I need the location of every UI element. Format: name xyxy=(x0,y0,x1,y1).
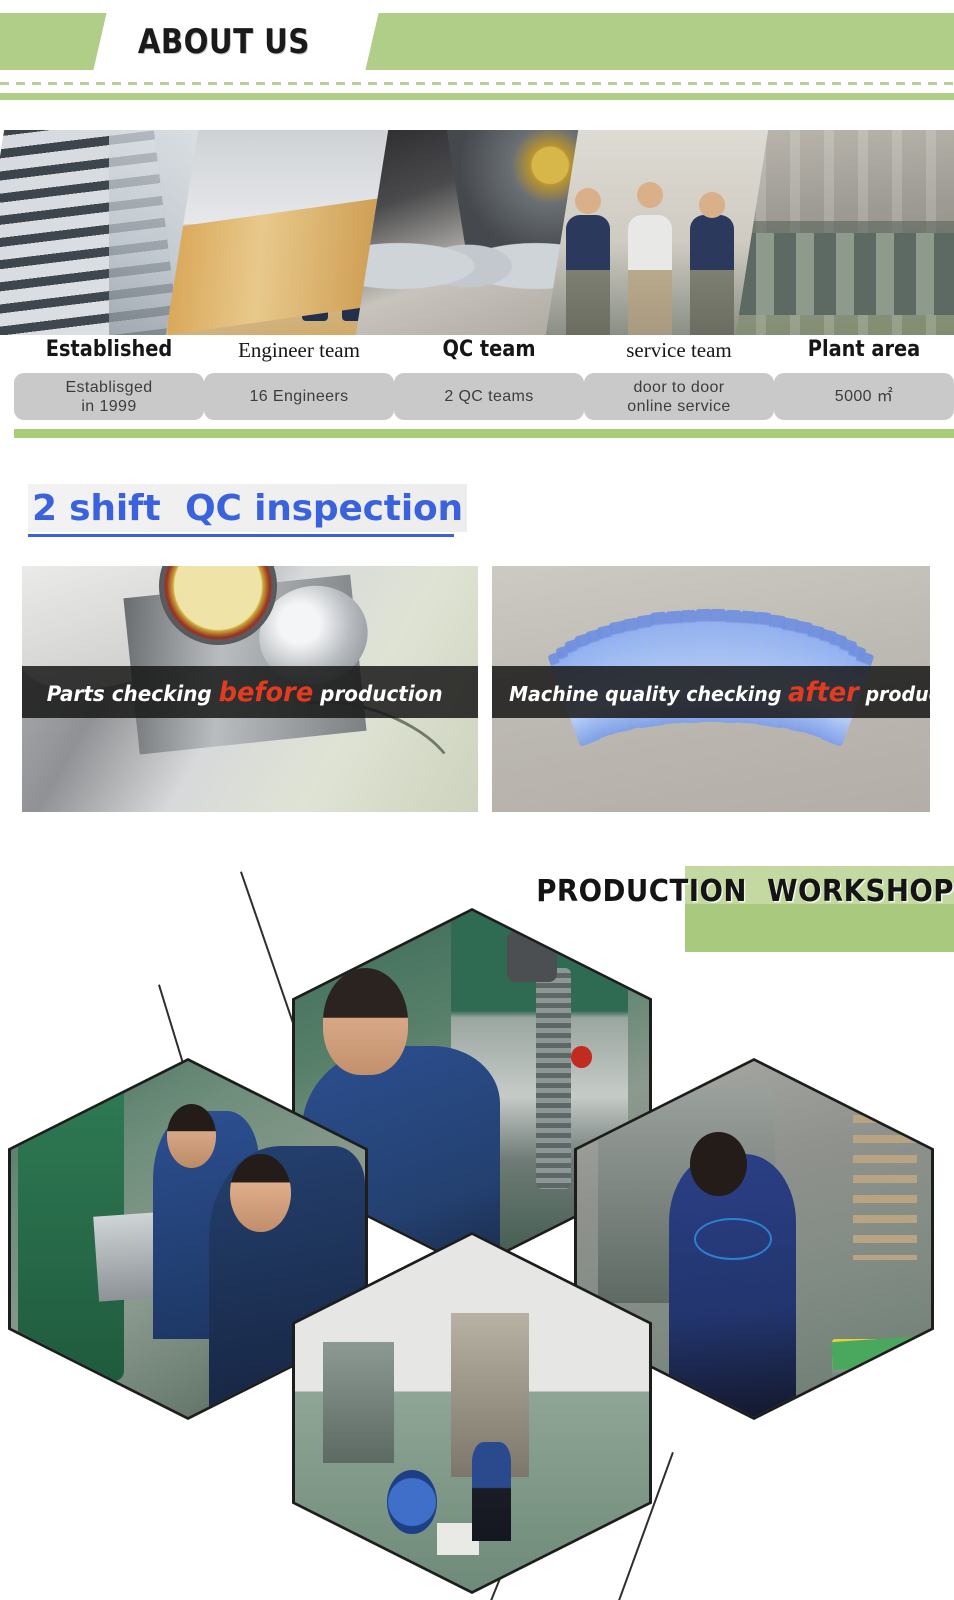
caption-highlight: before xyxy=(219,677,314,708)
feature-label: QC team xyxy=(405,335,572,365)
feature-service-team: service team door to door online service xyxy=(584,335,774,438)
header-green-rule xyxy=(0,93,954,100)
parts-checking-photo: Parts checking before production xyxy=(22,566,478,812)
feature-established: Established Establisged in 1999 xyxy=(14,335,204,438)
feature-engineer-team: Engineer team 16 Engineers xyxy=(204,335,394,438)
feature-green-bar xyxy=(774,429,954,438)
workshop-title: PRODUCTION WORKSHOP xyxy=(615,868,954,914)
feature-plant-area: Plant area 5000 ㎡ xyxy=(774,335,954,438)
feature-green-bar xyxy=(584,429,774,438)
feature-label: service team xyxy=(584,335,774,365)
feature-green-bar xyxy=(204,429,394,438)
caption-pre: Machine quality checking xyxy=(509,682,788,706)
feature-label: Plant area xyxy=(785,335,943,365)
feature-qc-team: QC team 2 QC teams xyxy=(394,335,584,438)
qc-heading-label: QC inspection xyxy=(185,488,463,529)
feature-green-bar xyxy=(394,429,584,438)
caption-pre: Parts checking xyxy=(47,682,219,706)
header-dashed-divider xyxy=(0,82,954,85)
feature-photo-strip xyxy=(0,130,954,335)
feature-green-bar xyxy=(14,429,204,438)
caption-post: production xyxy=(313,682,442,706)
feature-value: 16 Engineers xyxy=(204,373,394,420)
feature-label: Engineer team xyxy=(204,335,394,365)
qc-heading-shift: 2 shift xyxy=(32,488,185,529)
machine-quality-caption: Machine quality checking after productio… xyxy=(492,666,930,718)
about-us-header: ABOUT US xyxy=(0,0,954,118)
feature-value: 5000 ㎡ xyxy=(774,373,954,420)
parts-checking-caption: Parts checking before production xyxy=(22,666,478,718)
plant-area-photo xyxy=(736,130,954,335)
machine-quality-photo: Machine quality checking after productio… xyxy=(492,566,930,812)
caption-highlight: after xyxy=(788,677,859,708)
feature-value: Establisged in 1999 xyxy=(14,373,204,420)
caption-post: production xyxy=(859,682,930,706)
qc-inspection-heading: 2 shift QC inspection xyxy=(28,484,467,532)
feature-value: door to door online service xyxy=(584,373,774,420)
qc-heading-underline xyxy=(28,534,454,537)
feature-label: Established xyxy=(25,335,192,365)
feature-value: 2 QC teams xyxy=(394,373,584,420)
page-title: ABOUT US xyxy=(112,18,336,66)
